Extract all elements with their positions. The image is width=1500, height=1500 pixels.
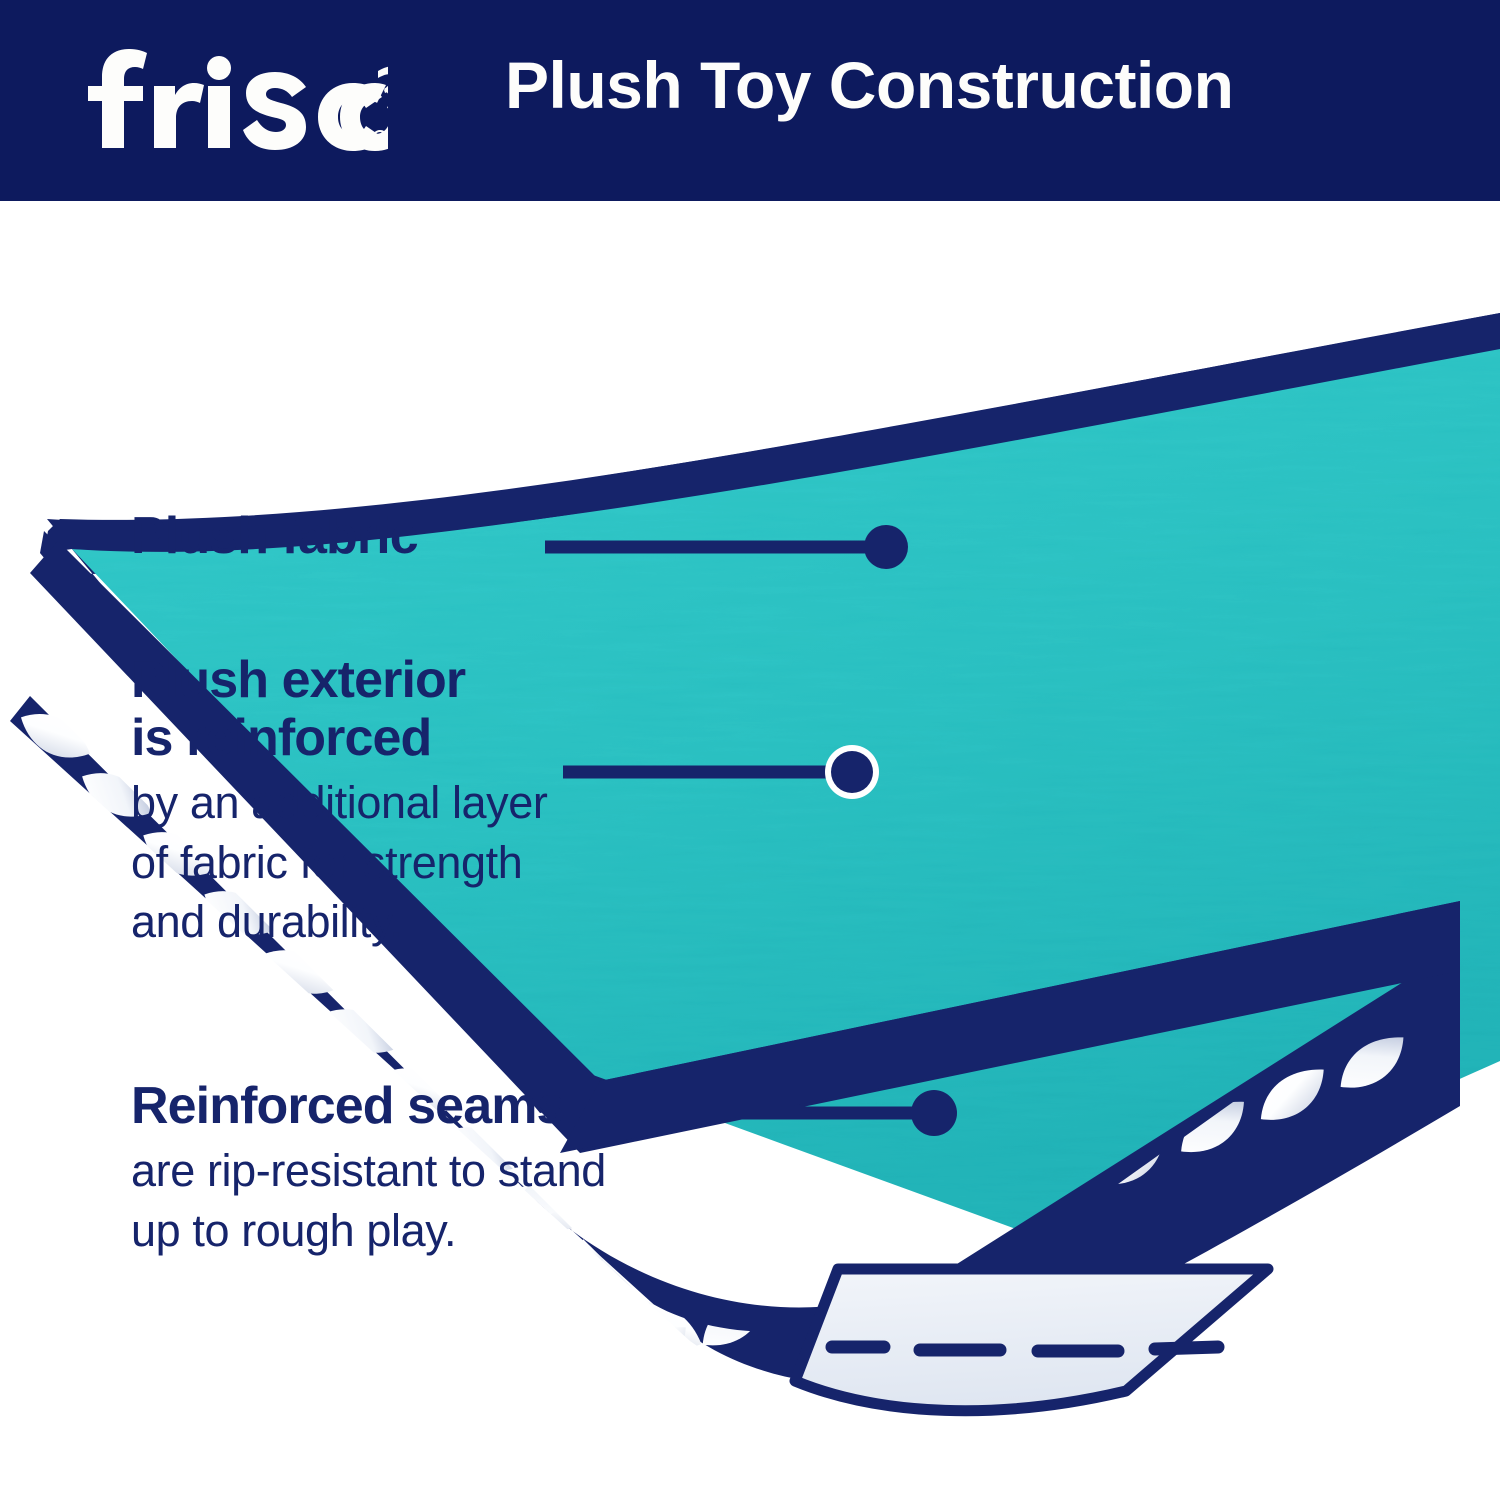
leader-dot-reinforced-seams [911, 1090, 957, 1136]
callout-body-reinforced-seams: are rip-resistant to stand up to rough p… [131, 1141, 606, 1260]
callout-plush-fabric: Plush fabric [131, 507, 418, 565]
leader-dot-plush-exterior [831, 751, 873, 793]
frisco-logo: R [78, 46, 388, 151]
callout-reinforced-seams: Reinforced seams are rip-resistant to st… [131, 1077, 606, 1260]
callout-heading-plush-exterior: Plush exterior is reinforced [131, 651, 547, 767]
infographic-page: R Plush Toy Construction [0, 0, 1500, 1500]
callout-heading-plush-fabric: Plush fabric [131, 507, 418, 565]
svg-text:R: R [377, 134, 383, 144]
callout-body-plush-exterior: by an additional layer of fabric for str… [131, 773, 547, 951]
callout-heading-reinforced-seams: Reinforced seams [131, 1077, 606, 1135]
header-band: R Plush Toy Construction [0, 0, 1500, 201]
leader-dot-plush-fabric [864, 525, 908, 569]
page-title: Plush Toy Construction [505, 52, 1233, 118]
callout-plush-exterior: Plush exterior is reinforced by an addit… [131, 651, 547, 952]
